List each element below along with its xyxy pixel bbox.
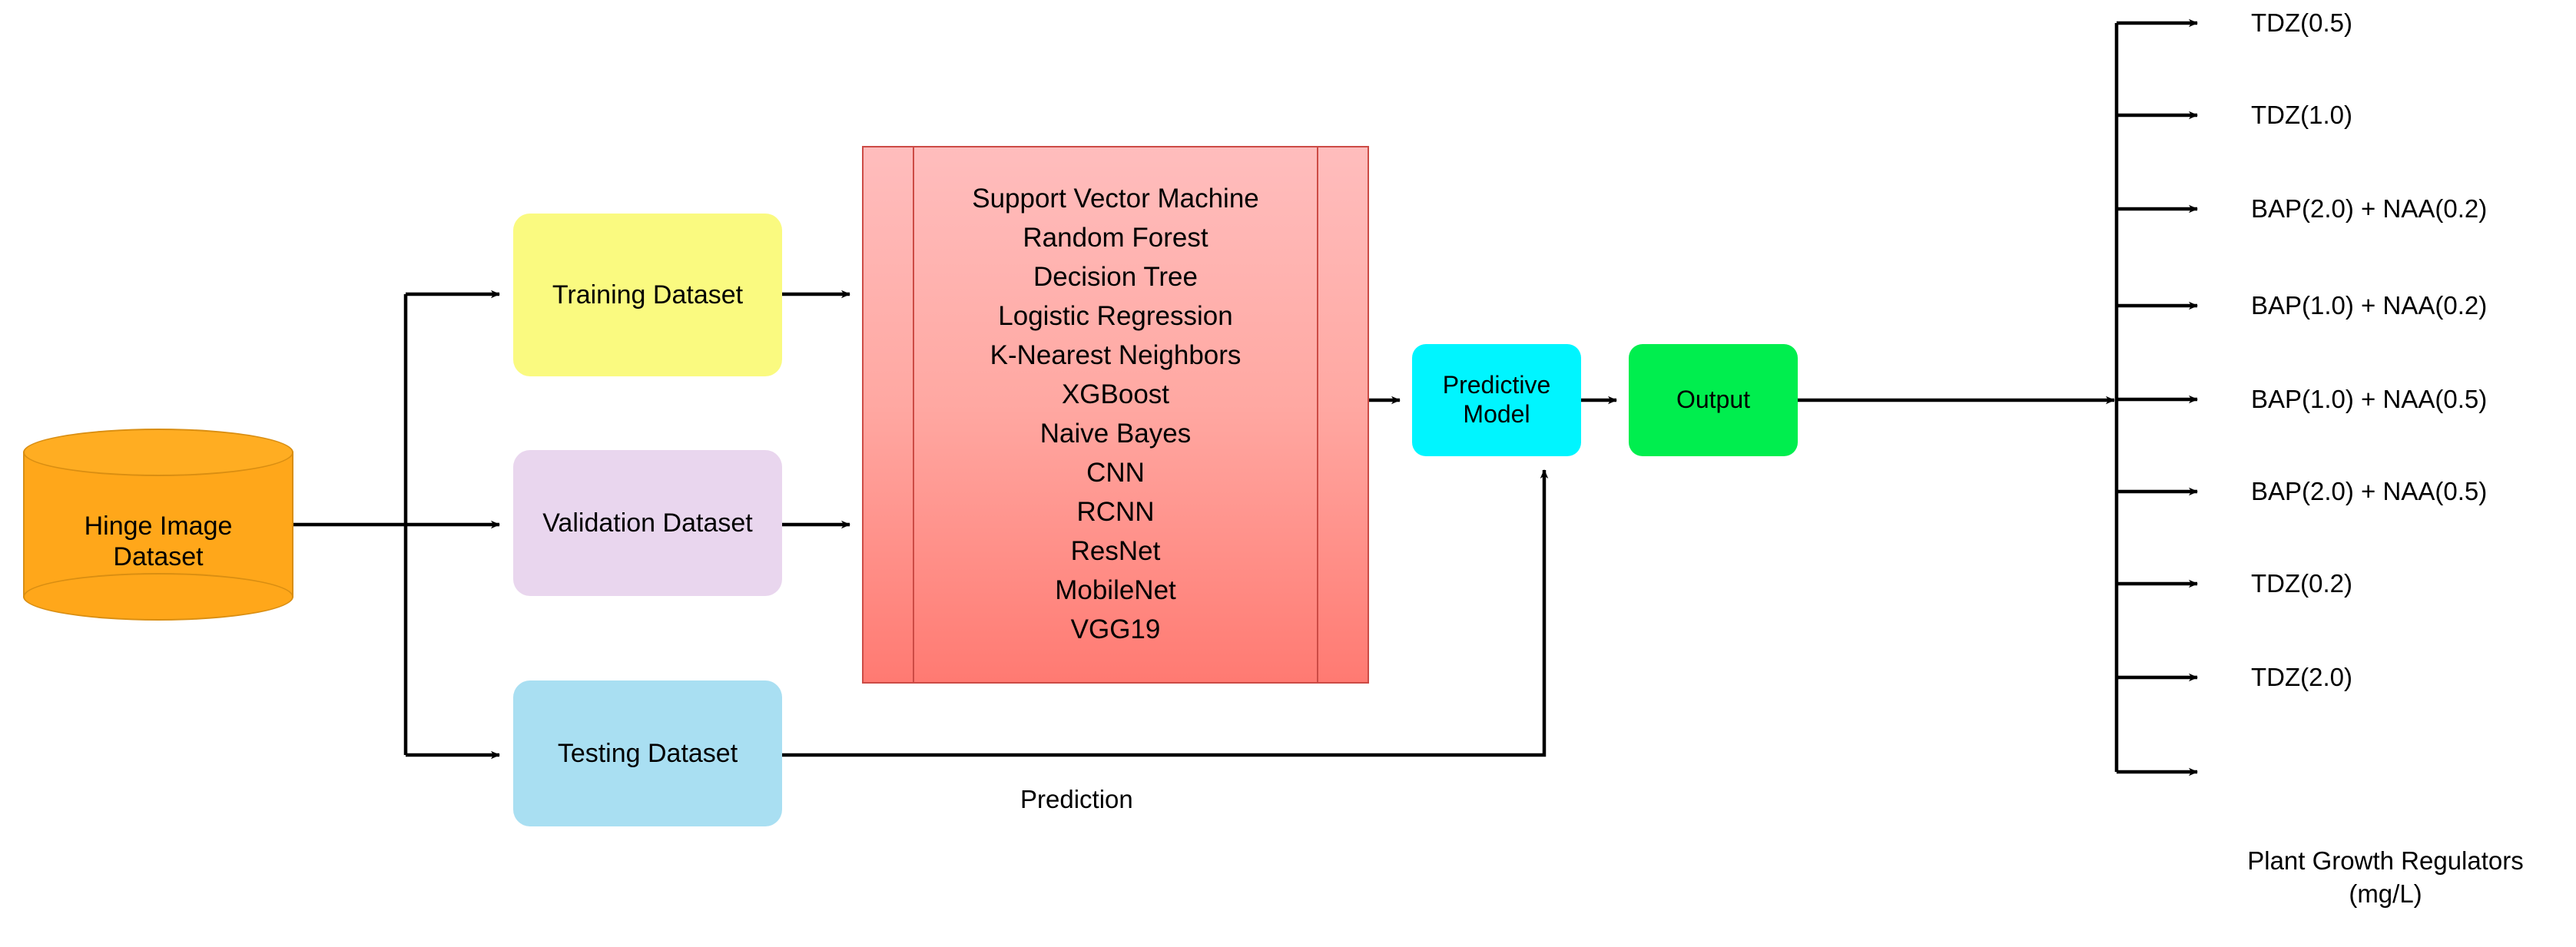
algorithm-item: ResNet [1071, 532, 1161, 571]
pgr-output-label: TDZ(0.2) [2251, 569, 2352, 598]
algorithm-item: XGBoost [1062, 376, 1169, 415]
diagram-canvas: Hinge Image Dataset Training Dataset Val… [0, 0, 2576, 947]
algorithm-list: Support Vector MachineRandom ForestDecis… [914, 147, 1317, 682]
training-dataset-box[interactable]: Training Dataset [513, 214, 782, 376]
algorithm-item: RCNN [1076, 493, 1154, 532]
pgr-output-label: BAP(2.0) + NAA(0.5) [2251, 477, 2487, 506]
algorithm-item: VGG19 [1071, 611, 1161, 650]
testing-dataset-label: Testing Dataset [558, 738, 738, 769]
predictive-model-label: Predictive Model [1412, 371, 1581, 429]
prediction-edge-label: Prediction [1020, 785, 1133, 814]
pgr-caption-line-2: (mg/L) [2220, 878, 2551, 911]
validation-dataset-label: Validation Dataset [542, 508, 752, 538]
testing-dataset-box[interactable]: Testing Dataset [513, 680, 782, 826]
pgr-caption-line-1: Plant Growth Regulators [2220, 845, 2551, 878]
cylinder-top-ellipse [23, 429, 293, 476]
process-right-bar [1317, 146, 1318, 684]
algorithm-item: K-Nearest Neighbors [990, 336, 1242, 376]
pgr-output-label: TDZ(2.0) [2251, 663, 2352, 692]
pgr-output-label: BAP(1.0) + NAA(0.5) [2251, 385, 2487, 414]
algorithms-box[interactable]: Support Vector MachineRandom ForestDecis… [862, 146, 1369, 684]
pgr-output-label: TDZ(1.0) [2251, 101, 2352, 130]
algorithm-item: Logistic Regression [998, 297, 1232, 336]
hinge-image-dataset-label: Hinge Image Dataset [23, 484, 293, 599]
algorithm-item: Support Vector Machine [972, 180, 1259, 219]
algorithm-item: Decision Tree [1033, 258, 1198, 297]
hinge-image-dataset-cylinder[interactable]: Hinge Image Dataset [23, 429, 293, 621]
pgr-output-label: BAP(1.0) + NAA(0.2) [2251, 291, 2487, 320]
training-dataset-label: Training Dataset [552, 280, 743, 310]
output-label: Output [1676, 386, 1750, 415]
predictive-model-box[interactable]: Predictive Model [1412, 344, 1581, 456]
pgr-output-label: BAP(2.0) + NAA(0.2) [2251, 194, 2487, 224]
validation-dataset-box[interactable]: Validation Dataset [513, 450, 782, 596]
algorithm-item: MobileNet [1055, 571, 1176, 611]
algorithm-item: Naive Bayes [1040, 415, 1191, 454]
algorithm-item: Random Forest [1023, 219, 1208, 258]
output-box[interactable]: Output [1629, 344, 1798, 456]
plant-growth-regulators-caption: Plant Growth Regulators (mg/L) [2220, 845, 2551, 911]
algorithm-item: CNN [1086, 454, 1145, 493]
pgr-output-label: TDZ(0.5) [2251, 8, 2352, 38]
